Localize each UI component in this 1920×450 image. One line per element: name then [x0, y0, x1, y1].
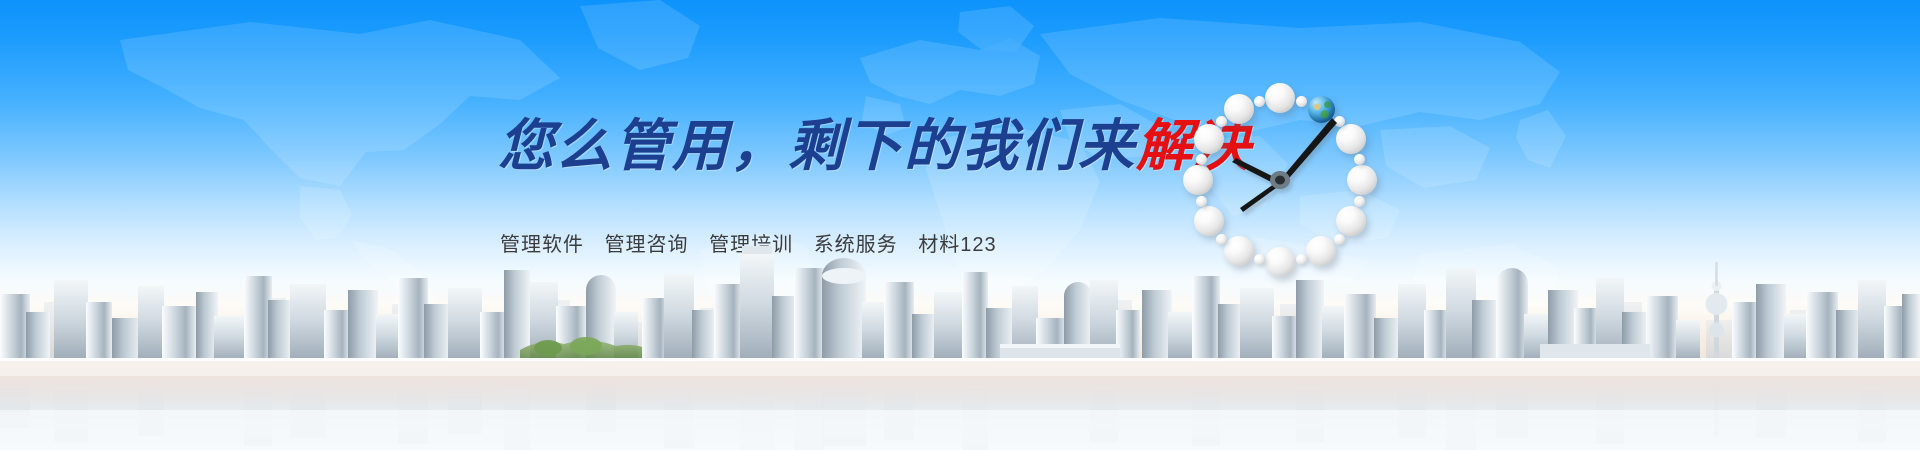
subtitle-item-0: 管理软件 — [500, 234, 584, 256]
clock-minute-hand — [1280, 118, 1337, 184]
subtitle-item-2: 管理培训 — [709, 234, 793, 256]
headline: 您么管用，剩下的我们来解决 — [498, 118, 1252, 177]
subtitle-item-3: 系统服务 — [814, 234, 898, 256]
tv-tower — [1706, 262, 1728, 360]
hero-banner: 您么管用，剩下的我们来解决 管理软件 管理咨询 管理培训 系统服务 材料123 — [0, 0, 1920, 450]
subtitle-item-1: 管理咨询 — [605, 234, 689, 256]
world-clock-graphic — [1180, 80, 1380, 280]
city-skyline — [0, 240, 1920, 450]
subtitle-service-list: 管理软件 管理咨询 管理培训 系统服务 材料123 — [500, 228, 997, 257]
subtitle-item-4: 材料123 — [918, 234, 996, 256]
headline-blue-text: 您么管用，剩下的我们来 — [498, 116, 1136, 178]
clock-hands — [1180, 80, 1380, 280]
